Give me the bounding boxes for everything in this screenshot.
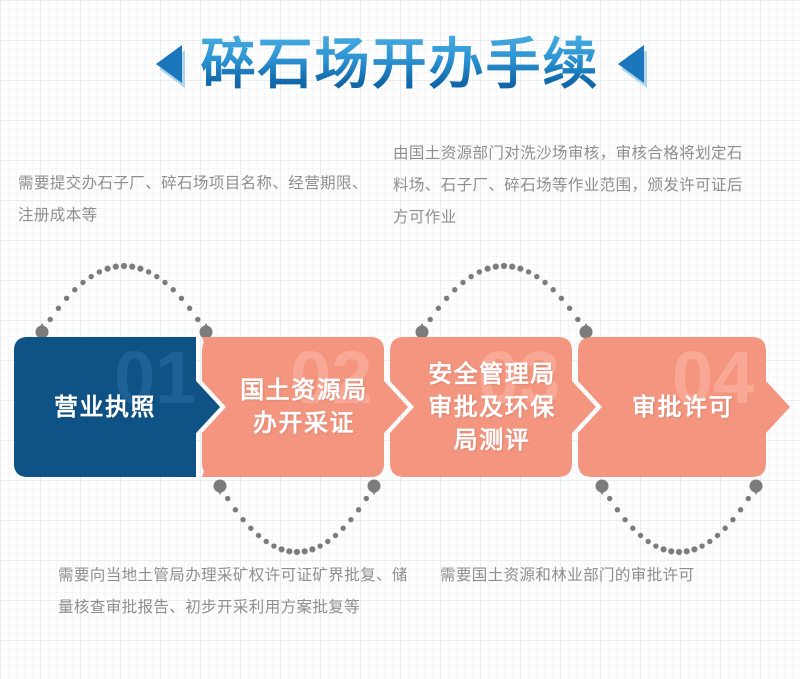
step-2[interactable]: 02 国土资源局 办开采证 [202, 337, 408, 477]
process-steps: 01 营业执照 02 国土资源局 办开采证 03 安全管理局 [0, 337, 800, 477]
note-bottom-left: 需要向当地土管局办理采矿权许可证矿界批复、储量核查审批报告、初步开采利用方案批复… [58, 560, 408, 624]
triangle-left-icon [156, 45, 182, 83]
note-top-left: 需要提交办石子厂、碎石场项目名称、经营期限、注册成本等 [18, 168, 373, 232]
arc-top-right [414, 258, 594, 340]
step-1-shape [14, 337, 220, 477]
arc-bottom-right [594, 478, 764, 560]
arc-bottom-left [212, 478, 382, 560]
page-title: 碎石场开办手续 [200, 33, 599, 95]
arc-top-left [34, 258, 214, 340]
step-4-shape [578, 337, 790, 477]
step-2-shape [202, 337, 408, 477]
step-1[interactable]: 01 营业执照 [14, 337, 220, 477]
triangle-left-icon-right [618, 45, 644, 83]
note-top-right: 由国土资源部门对洗沙场审核，审核合格将划定石料场、石子厂、碎石场等作业范围，颁发… [393, 138, 743, 234]
page-title-wrapper: 碎石场开办手续 碎石场开办手续 [200, 37, 599, 92]
step-3[interactable]: 03 安全管理局 审批及环保 局测评 [390, 337, 596, 477]
title-bar: 碎石场开办手续 碎石场开办手续 [0, 18, 800, 110]
step-4[interactable]: 04 审批许可 [578, 337, 790, 477]
infographic-page: 碎石场开办手续 碎石场开办手续 需要提交办石子厂、碎石场项目名称、经营期限、注册… [0, 0, 800, 679]
step-3-shape [390, 337, 596, 477]
note-bottom-right: 需要国土资源和林业部门的审批许可 [440, 560, 795, 592]
